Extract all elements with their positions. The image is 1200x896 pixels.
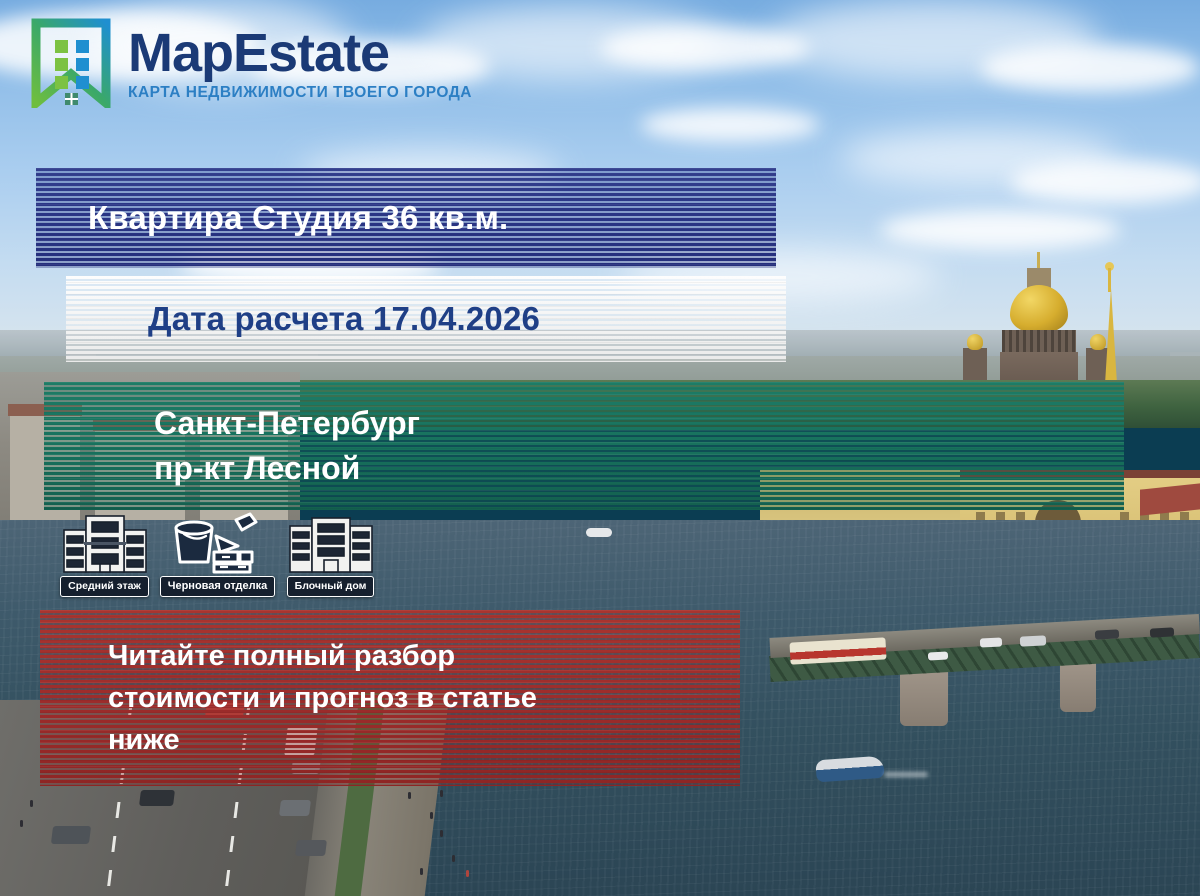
feature-floor: Средний этаж — [52, 512, 157, 597]
river-boat — [815, 756, 884, 783]
cloud — [980, 44, 1200, 92]
location-text: Санкт-Петербург пр-кт Лесной — [44, 401, 1124, 492]
pedestrian — [452, 855, 455, 862]
pedestrian — [440, 830, 443, 837]
pedestrian — [430, 812, 433, 819]
car — [928, 651, 948, 660]
car — [1150, 627, 1174, 637]
feature-house-type-label: Блочный дом — [287, 576, 375, 597]
brand-tagline: КАРТА НЕДВИЖИМОСТИ ТВОЕГО ГОРОДА — [128, 85, 472, 101]
feature-finish-label: Черновая отделка — [160, 576, 276, 597]
location-street: пр-кт Лесной — [154, 446, 1124, 491]
boat-wake — [884, 772, 928, 777]
location-city: Санкт-Петербург — [154, 401, 1124, 446]
pedestrian — [20, 820, 23, 827]
cathedral-corner-dome — [967, 334, 983, 350]
brand-logo[interactable]: MapEstate КАРТА НЕДВИЖИМОСТИ ТВОЕГО ГОРО… — [28, 18, 472, 108]
pedestrian — [30, 800, 33, 807]
property-title-text: Квартира Студия 36 кв.м. — [36, 199, 776, 237]
cloud — [640, 108, 820, 142]
feature-floor-label: Средний этаж — [60, 576, 149, 597]
cta-banner: Читайте полный разбор стоимости и прогно… — [40, 610, 740, 786]
calculation-date-text: Дата расчета 17.04.2026 — [66, 300, 786, 338]
calculation-date-banner: Дата расчета 17.04.2026 — [66, 276, 786, 362]
feature-badges: Средний этаж Черновая отделка — [52, 512, 383, 597]
cta-text: Читайте полный разбор стоимости и прогно… — [40, 635, 740, 762]
bookmark-building-icon — [28, 18, 114, 108]
mid-rise-building-icon — [62, 512, 148, 574]
block-house-building-icon — [286, 512, 376, 574]
car — [51, 826, 91, 844]
car — [279, 800, 311, 816]
distant-boat — [586, 528, 612, 537]
car — [980, 637, 1002, 647]
paint-bucket-trowel-bricks-icon — [168, 512, 268, 574]
cta-line-2: стоимости и прогноз в статье — [108, 677, 740, 719]
car — [295, 840, 327, 856]
pedestrian — [440, 790, 443, 797]
cloud — [1010, 160, 1200, 204]
cloud — [880, 210, 1120, 250]
property-title-banner: Квартира Студия 36 кв.м. — [36, 168, 776, 268]
cta-line-1: Читайте полный разбор — [108, 635, 740, 677]
car — [1095, 629, 1119, 639]
cta-line-3: ниже — [108, 719, 740, 761]
pedestrian — [408, 792, 411, 799]
brand-name: MapEstate — [128, 26, 472, 80]
feature-finish: Черновая отделка — [165, 512, 270, 597]
location-banner: Санкт-Петербург пр-кт Лесной — [44, 382, 1124, 510]
pedestrian — [466, 870, 469, 877]
pedestrian — [420, 868, 423, 875]
car — [139, 790, 175, 806]
car — [1020, 635, 1046, 646]
feature-house-type: Блочный дом — [278, 512, 383, 597]
